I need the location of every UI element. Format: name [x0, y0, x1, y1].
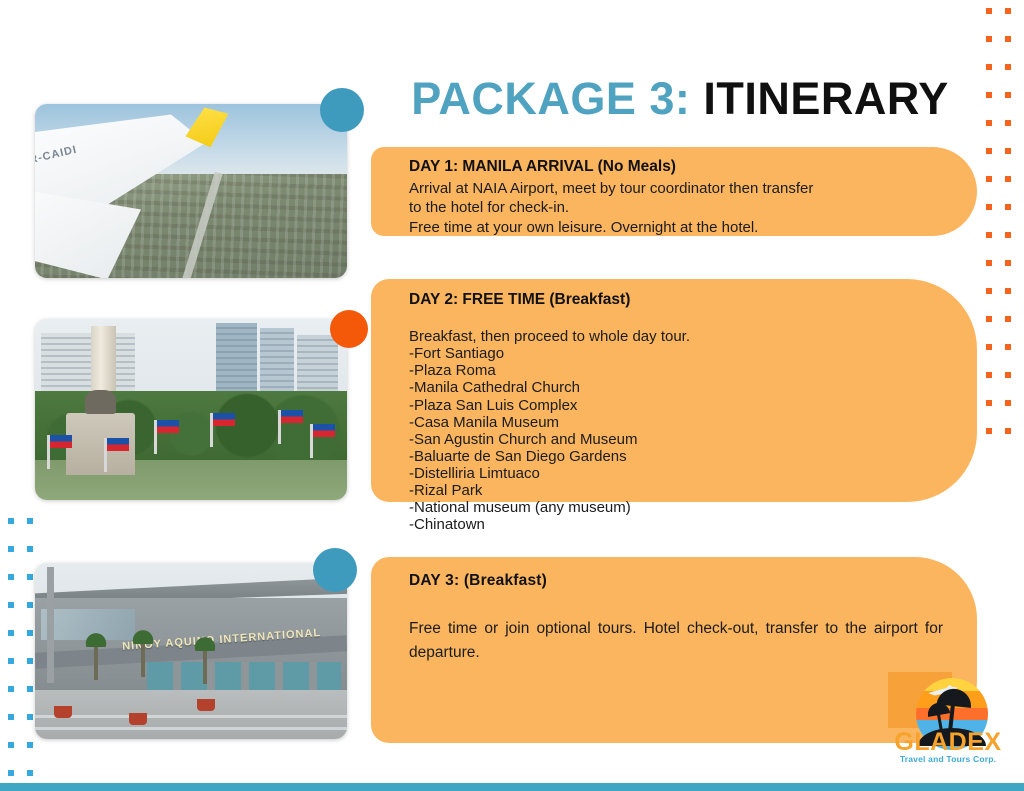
- decorative-dot: [27, 658, 33, 664]
- decorative-dot: [8, 658, 14, 664]
- day-2-item: -Chinatown: [409, 516, 951, 533]
- decorative-dot: [1005, 204, 1011, 210]
- decorative-dot: [27, 518, 33, 524]
- page-title-package: PACKAGE 3:: [411, 73, 690, 124]
- logo-tagline: Travel and Tours Corp.: [888, 754, 1008, 764]
- decorative-dot: [8, 686, 14, 692]
- decorative-dot: [1005, 288, 1011, 294]
- day-2-item: -Distelliria Limtuaco: [409, 465, 951, 482]
- photo-rizal-park: [35, 319, 347, 500]
- decorative-dot: [986, 288, 992, 294]
- day-2-item: -Manila Cathedral Church: [409, 379, 951, 396]
- decorative-dot: [1005, 36, 1011, 42]
- day-2-panel: DAY 2: FREE TIME (Breakfast) Breakfast, …: [371, 279, 977, 502]
- decorative-dot: [8, 714, 14, 720]
- decorative-dot: [986, 176, 992, 182]
- accent-circle-blue-bottom: [313, 548, 357, 592]
- page-title: PACKAGE 3: ITINERARY: [400, 73, 960, 125]
- day-1-panel: DAY 1: MANILA ARRIVAL (No Meals) Arrival…: [371, 147, 977, 236]
- day-2-item: -Casa Manila Museum: [409, 414, 951, 431]
- decorative-dot: [27, 686, 33, 692]
- day-2-item: -National museum (any museum): [409, 499, 951, 516]
- decorative-dot: [986, 64, 992, 70]
- decorative-dot: [986, 148, 992, 154]
- bottom-accent-bar: [0, 783, 1024, 791]
- decorative-dot: [27, 770, 33, 776]
- photo-naia-terminal: NINOY AQUINO INTERNATIONAL: [35, 563, 347, 739]
- decorative-dot: [1005, 8, 1011, 14]
- decorative-dot: [1005, 64, 1011, 70]
- decorative-dot: [1005, 316, 1011, 322]
- decorative-dot: [1005, 372, 1011, 378]
- decorative-dots-top-right: [986, 8, 1024, 456]
- decorative-dot: [986, 204, 992, 210]
- page-title-itinerary: ITINERARY: [690, 73, 948, 124]
- day-2-heading: DAY 2: FREE TIME (Breakfast): [409, 290, 951, 310]
- decorative-dot: [986, 344, 992, 350]
- day-2-item: -San Agustin Church and Museum: [409, 431, 951, 448]
- decorative-dot: [1005, 428, 1011, 434]
- day-1-line: to the hotel for check-in.: [409, 198, 951, 217]
- decorative-dot: [8, 630, 14, 636]
- logo-company-name: GLADEX: [888, 730, 1008, 755]
- day-3-heading: DAY 3: (Breakfast): [409, 571, 943, 591]
- day-2-item: -Plaza Roma: [409, 362, 951, 379]
- day-2-intro: Breakfast, then proceed to whole day tou…: [409, 328, 951, 345]
- decorative-dot: [1005, 176, 1011, 182]
- day-1-line: Arrival at NAIA Airport, meet by tour co…: [409, 179, 951, 198]
- decorative-dot: [27, 742, 33, 748]
- accent-circle-blue-top: [320, 88, 364, 132]
- decorative-dot: [986, 232, 992, 238]
- decorative-dot: [986, 92, 992, 98]
- decorative-dot: [1005, 344, 1011, 350]
- decorative-dot: [986, 316, 992, 322]
- day-3-panel: DAY 3: (Breakfast) Free time or join opt…: [371, 557, 977, 743]
- day-2-item: -Fort Santiago: [409, 345, 951, 362]
- decorative-dot: [1005, 232, 1011, 238]
- decorative-dot: [27, 714, 33, 720]
- accent-circle-orange-middle: [330, 310, 368, 348]
- day-1-body: Arrival at NAIA Airport, meet by tour co…: [409, 179, 951, 237]
- itinerary-page: PACKAGE 3: ITINERARY R-CAIDI: [0, 0, 1024, 791]
- decorative-dot: [986, 372, 992, 378]
- decorative-dot: [986, 400, 992, 406]
- decorative-dot: [986, 260, 992, 266]
- decorative-dot: [986, 428, 992, 434]
- decorative-dot: [986, 8, 992, 14]
- decorative-dot: [27, 630, 33, 636]
- decorative-dot: [1005, 148, 1011, 154]
- decorative-dot: [986, 36, 992, 42]
- decorative-dot: [1005, 92, 1011, 98]
- decorative-dot: [1005, 120, 1011, 126]
- day-2-body: Breakfast, then proceed to whole day tou…: [409, 328, 951, 533]
- photo-airplane-wing: R-CAIDI: [35, 104, 347, 278]
- company-logo: GLADEX Travel and Tours Corp.: [888, 672, 1008, 768]
- day-1-line: Free time at your own leisure. Overnight…: [409, 218, 951, 237]
- decorative-dot: [8, 742, 14, 748]
- decorative-dot: [8, 518, 14, 524]
- decorative-dot: [1005, 260, 1011, 266]
- day-2-item: -Baluarte de San Diego Gardens: [409, 448, 951, 465]
- decorative-dot: [8, 546, 14, 552]
- decorative-dot: [8, 770, 14, 776]
- day-3-body: Free time or join optional tours. Hotel …: [409, 617, 943, 665]
- decorative-dot: [27, 546, 33, 552]
- decorative-dot: [1005, 400, 1011, 406]
- decorative-dot: [27, 602, 33, 608]
- decorative-dot: [8, 602, 14, 608]
- decorative-dot: [27, 574, 33, 580]
- day-2-item: -Rizal Park: [409, 482, 951, 499]
- decorative-dot: [986, 120, 992, 126]
- decorative-dot: [8, 574, 14, 580]
- day-2-item: -Plaza San Luis Complex: [409, 397, 951, 414]
- day-1-heading: DAY 1: MANILA ARRIVAL (No Meals): [409, 157, 951, 177]
